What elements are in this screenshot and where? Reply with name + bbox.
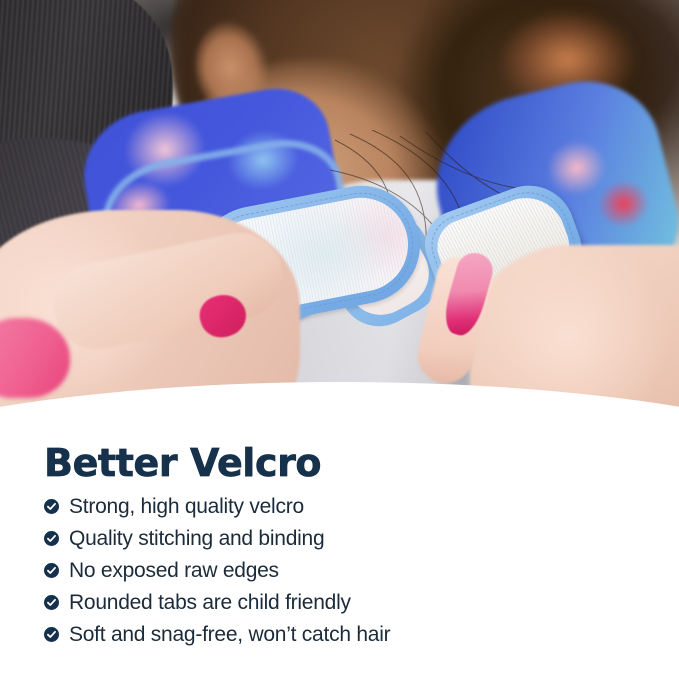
check-circle-icon — [44, 595, 59, 610]
feature-label: Rounded tabs are child friendly — [69, 591, 351, 615]
feature-list: Strong, high quality velcro Quality stit… — [44, 494, 644, 647]
feature-label: No exposed raw edges — [69, 559, 279, 583]
list-item: Strong, high quality velcro — [44, 494, 644, 519]
list-item: Soft and snag-free, won’t catch hair — [44, 622, 644, 647]
product-feature-card: Better Velcro Strong, high quality velcr… — [0, 0, 679, 679]
check-circle-icon — [44, 531, 59, 546]
list-item: Rounded tabs are child friendly — [44, 590, 644, 615]
check-circle-icon — [44, 499, 59, 514]
check-circle-icon — [44, 627, 59, 642]
page-title: Better Velcro — [44, 444, 644, 482]
list-item: Quality stitching and binding — [44, 526, 644, 551]
check-circle-icon — [44, 563, 59, 578]
feature-label: Strong, high quality velcro — [69, 495, 304, 519]
feature-label: Quality stitching and binding — [69, 527, 324, 551]
feature-label: Soft and snag-free, won’t catch hair — [69, 623, 390, 647]
list-item: No exposed raw edges — [44, 558, 644, 583]
feature-content: Better Velcro Strong, high quality velcr… — [44, 444, 644, 654]
